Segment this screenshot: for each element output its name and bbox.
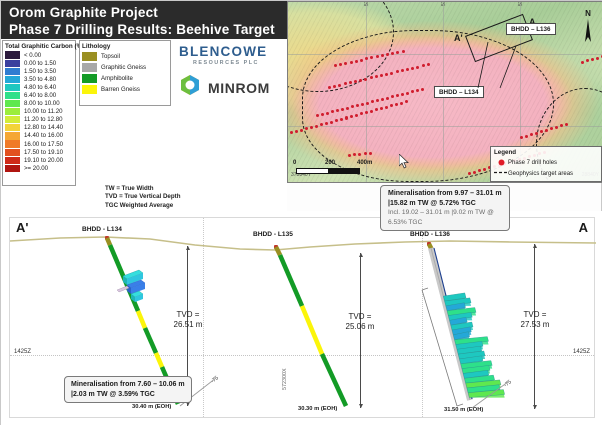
- tgc-legend-label: 8.00 to 10.00: [24, 100, 60, 107]
- tgc-legend-row: < 0.00: [3, 51, 75, 59]
- lithology-legend-label: Topsoil: [101, 53, 120, 60]
- tgc-legend-swatch: [5, 165, 20, 172]
- blencowe-logo: BLENCOWE RESOURCES PLC: [179, 45, 283, 66]
- map-drillhole-point[interactable]: [361, 103, 364, 106]
- tgc-legend-label: < 0.00: [24, 52, 41, 59]
- scale-tick: 400m: [357, 160, 372, 166]
- tvd-text-l136: TVD = 27.53 m: [507, 310, 563, 330]
- tgc-legend-swatch: [5, 132, 20, 139]
- tgc-legend-swatch: [5, 100, 20, 107]
- map-drillhole-point[interactable]: [483, 168, 486, 171]
- map-drillhole-point[interactable]: [581, 61, 584, 64]
- tgc-legend-row: 17.50 to 19.10: [3, 148, 75, 156]
- callout-l136-line1: Mineralisation from 9.97 – 31.01 m: [388, 189, 502, 199]
- abbreviation-notes: TW = True Width TVD = True Vertical Dept…: [105, 185, 180, 210]
- tgc-legend-label: 11.20 to 12.80: [24, 116, 63, 123]
- tgc-legend-swatch: [5, 84, 20, 91]
- lithology-legend-title: Lithology: [80, 41, 170, 51]
- tgc-legend-label: 6.40 to 8.00: [24, 92, 56, 99]
- lithology-legend-rows: TopsoilGraphitic GneissAmphiboliteBarren…: [80, 51, 170, 95]
- callout-l136-line4: 6.53% TGC: [388, 218, 502, 228]
- scale-tick: 200: [325, 160, 335, 166]
- tgc-legend-row: 8.00 to 10.00: [3, 100, 75, 108]
- map-drillhole-point[interactable]: [355, 114, 358, 117]
- map-legend: Legend Phase 7 drill holes Geophysics ta…: [490, 146, 602, 182]
- map-drillhole-point[interactable]: [400, 102, 403, 105]
- map-scale-bar: 0200400m: [296, 160, 360, 174]
- map-drillhole-point[interactable]: [346, 107, 349, 110]
- map-drillhole-point[interactable]: [402, 50, 405, 53]
- note-tvd: TVD = True Vertical Depth: [105, 193, 180, 201]
- tgc-legend-row: 11.20 to 12.80: [3, 116, 75, 124]
- minrom-hexagon-icon: [179, 74, 201, 101]
- cross-section-canvas: A' A 1425Z 1425Z 572300X BHDD - L134: [9, 217, 595, 418]
- tgc-legend-swatch: [5, 92, 20, 99]
- drill-hole-dot-icon: [494, 159, 508, 168]
- map-drillhole-point[interactable]: [366, 102, 369, 105]
- minrom-wordmark: MINROM: [208, 80, 270, 96]
- tvd-label-l136: TVD =: [507, 310, 563, 320]
- tgc-legend-swatch: [5, 124, 20, 131]
- tgc-legend-row: 12.80 to 14.40: [3, 124, 75, 132]
- lithology-legend-swatch: [82, 74, 97, 83]
- map-drillhole-point[interactable]: [341, 108, 344, 111]
- lithology-legend-label: Barren Gneiss: [101, 86, 140, 93]
- tgc-legend-label: 3.50 to 4.80: [24, 76, 56, 83]
- blencowe-subtitle: RESOURCES PLC: [193, 60, 283, 66]
- callout-l136-line2: |15.82 m TW @ 5.72% TGC: [388, 199, 502, 209]
- map-drillhole-point[interactable]: [325, 122, 328, 125]
- tgc-legend-label: 14.40 to 16.00: [24, 132, 63, 139]
- lithology-legend: Lithology TopsoilGraphitic GneissAmphibo…: [79, 40, 171, 106]
- map-drillhole-point[interactable]: [385, 106, 388, 109]
- map-drillhole-point[interactable]: [330, 121, 333, 124]
- map-drillhole-point[interactable]: [381, 98, 384, 101]
- map-legend-label-drillholes: Phase 7 drill holes: [508, 160, 557, 166]
- cross-section-panel: A' A 1425Z 1425Z 572300X BHDD - L134: [1, 211, 602, 426]
- tgc-legend-row: 6.40 to 8.00: [3, 91, 75, 99]
- tgc-legend-label: 12.80 to 14.40: [24, 124, 63, 131]
- north-arrow: N: [582, 10, 594, 49]
- tgc-legend-swatch: [5, 51, 20, 58]
- tgc-legend-swatch: [5, 149, 20, 156]
- figure-root: Orom Graphite Project Phase 7 Drilling R…: [0, 0, 602, 425]
- map-drillhole-point[interactable]: [401, 93, 404, 96]
- map-drillhole-point[interactable]: [473, 171, 476, 174]
- map-drillhole-point[interactable]: [345, 116, 348, 119]
- map-drillhole-point[interactable]: [369, 152, 372, 155]
- map-legend-label-targets: Geophysics target areas: [508, 171, 573, 177]
- note-tgc: TGC Weighted Average: [105, 202, 180, 210]
- tgc-legend-row: 19.10 to 20.00: [3, 156, 75, 164]
- map-section-cap-a-prime: A': [454, 33, 463, 43]
- tgc-legend-label: >= 20.00: [24, 165, 48, 172]
- map-drillhole-point[interactable]: [355, 60, 358, 63]
- tgc-legend-row: >= 20.00: [3, 164, 75, 172]
- lithology-legend-label: Graphitic Gneiss: [101, 64, 146, 71]
- lithology-legend-row: Graphitic Gneiss: [80, 62, 170, 73]
- lithology-legend-row: Topsoil: [80, 51, 170, 62]
- tgc-legend-label: 19.10 to 20.00: [24, 157, 63, 164]
- minrom-logo: MINROM: [179, 74, 283, 101]
- map-drillhole-point[interactable]: [326, 112, 329, 115]
- blencowe-wordmark: BLENCOWE: [179, 45, 283, 59]
- tgc-legend: Total Graphitic Carbon (%) < 0.000.00 to…: [2, 40, 76, 186]
- tgc-legend-label: 16.00 to 17.50: [24, 141, 63, 148]
- map-drillhole-point[interactable]: [315, 125, 318, 128]
- map-legend-title: Legend: [494, 149, 598, 156]
- tgc-legend-row: 3.50 to 4.80: [3, 75, 75, 83]
- map-callout-l136[interactable]: BHDD – L136: [506, 23, 556, 35]
- lithology-legend-swatch: [82, 52, 97, 61]
- legend-panel: Total Graphitic Carbon (%) < 0.000.00 to…: [1, 39, 287, 211]
- tgc-legend-swatch: [5, 116, 20, 123]
- map-drillhole-point[interactable]: [386, 97, 389, 100]
- tgc-legend-swatch: [5, 76, 20, 83]
- map-drillhole-point[interactable]: [321, 113, 324, 116]
- map-drillhole-point[interactable]: [376, 55, 379, 58]
- lithology-legend-swatch: [82, 85, 97, 94]
- title-line-2: Phase 7 Drilling Results: Beehive Target: [9, 21, 287, 38]
- callout-l136[interactable]: Mineralisation from 9.97 – 31.01 m |15.8…: [380, 185, 510, 231]
- tgc-legend-row: 10.00 to 11.20: [3, 108, 75, 116]
- tvd-value-l136: 27.53 m: [507, 320, 563, 330]
- map-legend-item-targets: Geophysics target areas: [494, 170, 598, 177]
- map-drillhole-point[interactable]: [364, 152, 367, 155]
- map-drillhole-point[interactable]: [350, 61, 353, 64]
- callout-l134[interactable]: Mineralisation from 7.60 – 10.06 m |2.03…: [64, 376, 192, 403]
- map-coord-vert-2: 572400X: [441, 1, 447, 6]
- tgc-legend-row: 14.40 to 16.00: [3, 132, 75, 140]
- map-callout-l134[interactable]: BHDD – L134: [434, 86, 484, 98]
- lithology-legend-label: Amphibolite: [101, 75, 133, 82]
- map-drillhole-point[interactable]: [421, 88, 424, 91]
- map-drillhole-point[interactable]: [525, 135, 528, 138]
- north-label: N: [582, 10, 594, 18]
- map-drillhole-point[interactable]: [360, 59, 363, 62]
- note-tw: TW = True Width: [105, 185, 180, 193]
- tgc-legend-title: Total Graphitic Carbon (%): [3, 41, 75, 51]
- map-drillhole-point[interactable]: [565, 123, 568, 126]
- tgc-legend-row: 1.50 to 3.50: [3, 67, 75, 75]
- title-banner: Orom Graphite Project Phase 7 Drilling R…: [1, 1, 287, 39]
- scale-tick: 0: [293, 160, 296, 166]
- tgc-legend-swatch: [5, 140, 20, 147]
- tgc-legend-rows: < 0.000.00 to 1.501.50 to 3.503.50 to 4.…: [3, 51, 75, 172]
- callout-l136-line3: Incl. 19.02 – 31.01 m |9.02 m TW @: [388, 208, 502, 218]
- map-scale-ticks: 0200400m: [296, 160, 360, 168]
- tgc-legend-swatch: [5, 108, 20, 115]
- tgc-legend-row: 16.00 to 17.50: [3, 140, 75, 148]
- lithology-legend-row: Barren Gneiss: [80, 84, 170, 95]
- tgc-legend-row: 0.00 to 1.50: [3, 59, 75, 67]
- map-drillhole-point[interactable]: [340, 118, 343, 121]
- tgc-legend-label: 0.00 to 1.50: [24, 60, 56, 67]
- map-drillhole-point[interactable]: [596, 57, 599, 60]
- tgc-legend-swatch: [5, 60, 20, 67]
- location-map[interactable]: 378840Y 28840Y 572300X 572400X 572500X A…: [287, 1, 602, 183]
- map-drillhole-point[interactable]: [555, 126, 558, 129]
- tgc-legend-swatch: [5, 157, 20, 164]
- map-drillhole-point[interactable]: [370, 110, 373, 113]
- tgc-legend-row: 4.80 to 6.40: [3, 83, 75, 91]
- tgc-legend-swatch: [5, 68, 20, 75]
- lithology-legend-row: Amphibolite: [80, 73, 170, 84]
- tgc-legend-label: 17.50 to 19.10: [24, 149, 63, 156]
- map-drillhole-point[interactable]: [535, 132, 538, 135]
- tgc-legend-label: 10.00 to 11.20: [24, 108, 63, 115]
- tgc-legend-label: 1.50 to 3.50: [24, 68, 56, 75]
- map-drillhole-point[interactable]: [545, 129, 548, 132]
- logo-block: BLENCOWE RESOURCES PLC MINROM: [179, 45, 283, 107]
- map-scale-graphic: [296, 168, 360, 174]
- lithology-legend-swatch: [82, 63, 97, 72]
- map-coord-vert-1: 572300X: [364, 1, 370, 6]
- callout-l134-line2: |2.03 m TW @ 3.59% TGC: [71, 390, 185, 400]
- mouse-cursor-icon: [399, 154, 410, 174]
- map-coord-vert-3: 572500X: [518, 1, 524, 6]
- map-drillhole-point[interactable]: [300, 129, 303, 132]
- dashed-line-icon: [494, 170, 508, 177]
- tgc-legend-label: 4.80 to 6.40: [24, 84, 56, 91]
- map-drillhole-point[interactable]: [406, 92, 409, 95]
- map-legend-item-drillholes: Phase 7 drill holes: [494, 159, 598, 168]
- title-line-1: Orom Graphite Project: [9, 4, 287, 21]
- callout-l134-line1: Mineralisation from 7.60 – 10.06 m: [71, 380, 185, 390]
